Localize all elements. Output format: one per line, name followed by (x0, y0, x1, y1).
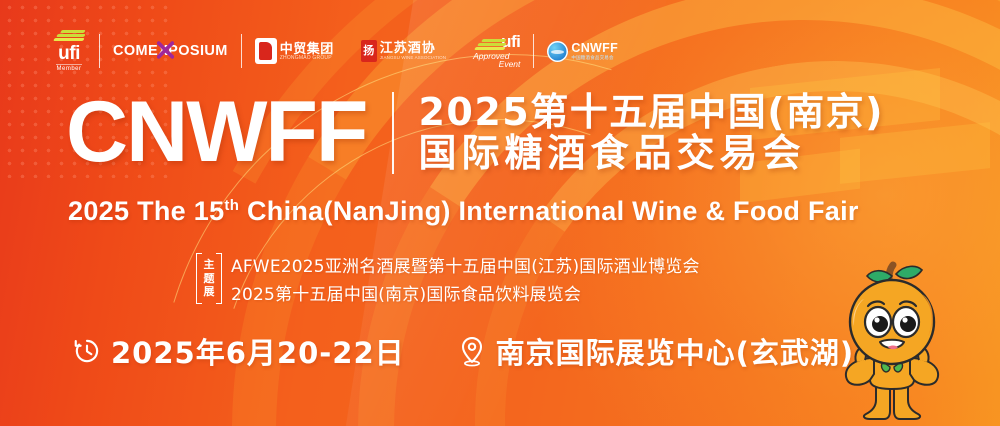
jiangsu-en-text: JIANGSU WINE ASSOCIATION (380, 56, 446, 61)
logo-separator-1 (99, 34, 100, 68)
theme-exhibition-line-1: AFWE2025亚洲名酒展暨第十五届中国(江苏)国际酒业博览会 (231, 252, 700, 277)
location-pin-icon (457, 335, 487, 367)
english-title-rest: China(NanJing) International Wine & Food… (239, 196, 859, 226)
comexposium-x-icon (157, 41, 174, 59)
event-date-item: 2025年6月20-22日 (72, 330, 405, 372)
event-venue-item: 南京国际展览中心(玄武湖) (457, 330, 855, 372)
clock-icon (72, 336, 102, 366)
chinese-title-line2: 国际糖酒食品交易会 (418, 133, 884, 174)
english-title-ordinal: th (224, 197, 239, 214)
event-info: 2025年6月20-22日 南京国际展览中心(玄武湖) (72, 330, 854, 372)
ufi-approved-event-logo: ufi Approved Event (473, 28, 520, 74)
zhongmao-mark-icon (255, 38, 277, 64)
comexposium-logo: COMEXPOSIUM (113, 28, 228, 74)
ufi-member-text: ufi (58, 44, 80, 63)
zhongmao-group-logo: 中贸集团 ZHONGMAO GROUP (255, 28, 334, 74)
chinese-title-line1: 2025第十五届中国(南京) (418, 92, 884, 133)
cnwff-logo: CNWFF 中国糖酒食品交易会 (547, 28, 618, 74)
headline-block: CNWFF 2025第十五届中国(南京) 国际糖酒食品交易会 (66, 92, 884, 174)
brand-acronym: CNWFF (66, 93, 366, 172)
cnwff-logo-text: CNWFF (571, 42, 618, 55)
theme-exhibition-lines: AFWE2025亚洲名酒展暨第十五届中国(江苏)国际酒业博览会 2025第十五届… (231, 252, 700, 305)
theme-badge-char-1: 主 (204, 258, 215, 271)
zhongmao-cn-text: 中贸集团 (280, 42, 334, 55)
english-title-main: 2025 The 15 (68, 196, 224, 226)
theme-exhibitions: 主 题 展 AFWE2025亚洲名酒展暨第十五届中国(江苏)国际酒业博览会 20… (196, 252, 700, 305)
zhongmao-en-text: ZHONGMAO GROUP (280, 56, 334, 61)
jiangsu-association-logo: 扬 江苏酒协 JIANGSU WINE ASSOCIATION (361, 28, 446, 74)
ufi-member-logo: ufi Member (52, 28, 86, 74)
ufi-wing-icon (52, 30, 86, 43)
cnwff-globe-icon (547, 41, 568, 62)
partner-logo-strip: ufi Member COMEXPOSIUM 中贸集团 ZHONGMAO GRO… (52, 28, 618, 74)
theme-exhibition-line-2: 2025第十五届中国(南京)国际食品饮料展览会 (231, 280, 700, 305)
event-banner: ufi Member COMEXPOSIUM 中贸集团 ZHONGMAO GRO… (0, 0, 1000, 426)
theme-badge-char-3: 展 (204, 285, 215, 298)
event-date: 2025年6月20-22日 (111, 330, 405, 372)
chinese-title: 2025第十五届中国(南京) 国际糖酒食品交易会 (418, 92, 884, 173)
ufi-member-subtext: Member (56, 64, 81, 72)
english-title: 2025 The 15th China(NanJing) Internation… (68, 196, 859, 227)
jiangsu-seal-icon: 扬 (361, 40, 377, 62)
event-venue: 南京国际展览中心(玄武湖) (496, 330, 855, 372)
theme-badge: 主 题 展 (196, 252, 222, 305)
jiangsu-cn-text: 江苏酒协 (380, 41, 446, 54)
ufi-approved-subtext-2: Event (499, 60, 521, 69)
theme-badge-char-2: 题 (204, 272, 215, 285)
orange-mascot (804, 254, 982, 426)
title-divider (392, 92, 394, 174)
logo-separator-3 (533, 34, 534, 68)
logo-separator-2 (241, 34, 242, 68)
cnwff-logo-subtext: 中国糖酒食品交易会 (571, 56, 618, 61)
ufi-approved-wing-icon (473, 39, 499, 50)
